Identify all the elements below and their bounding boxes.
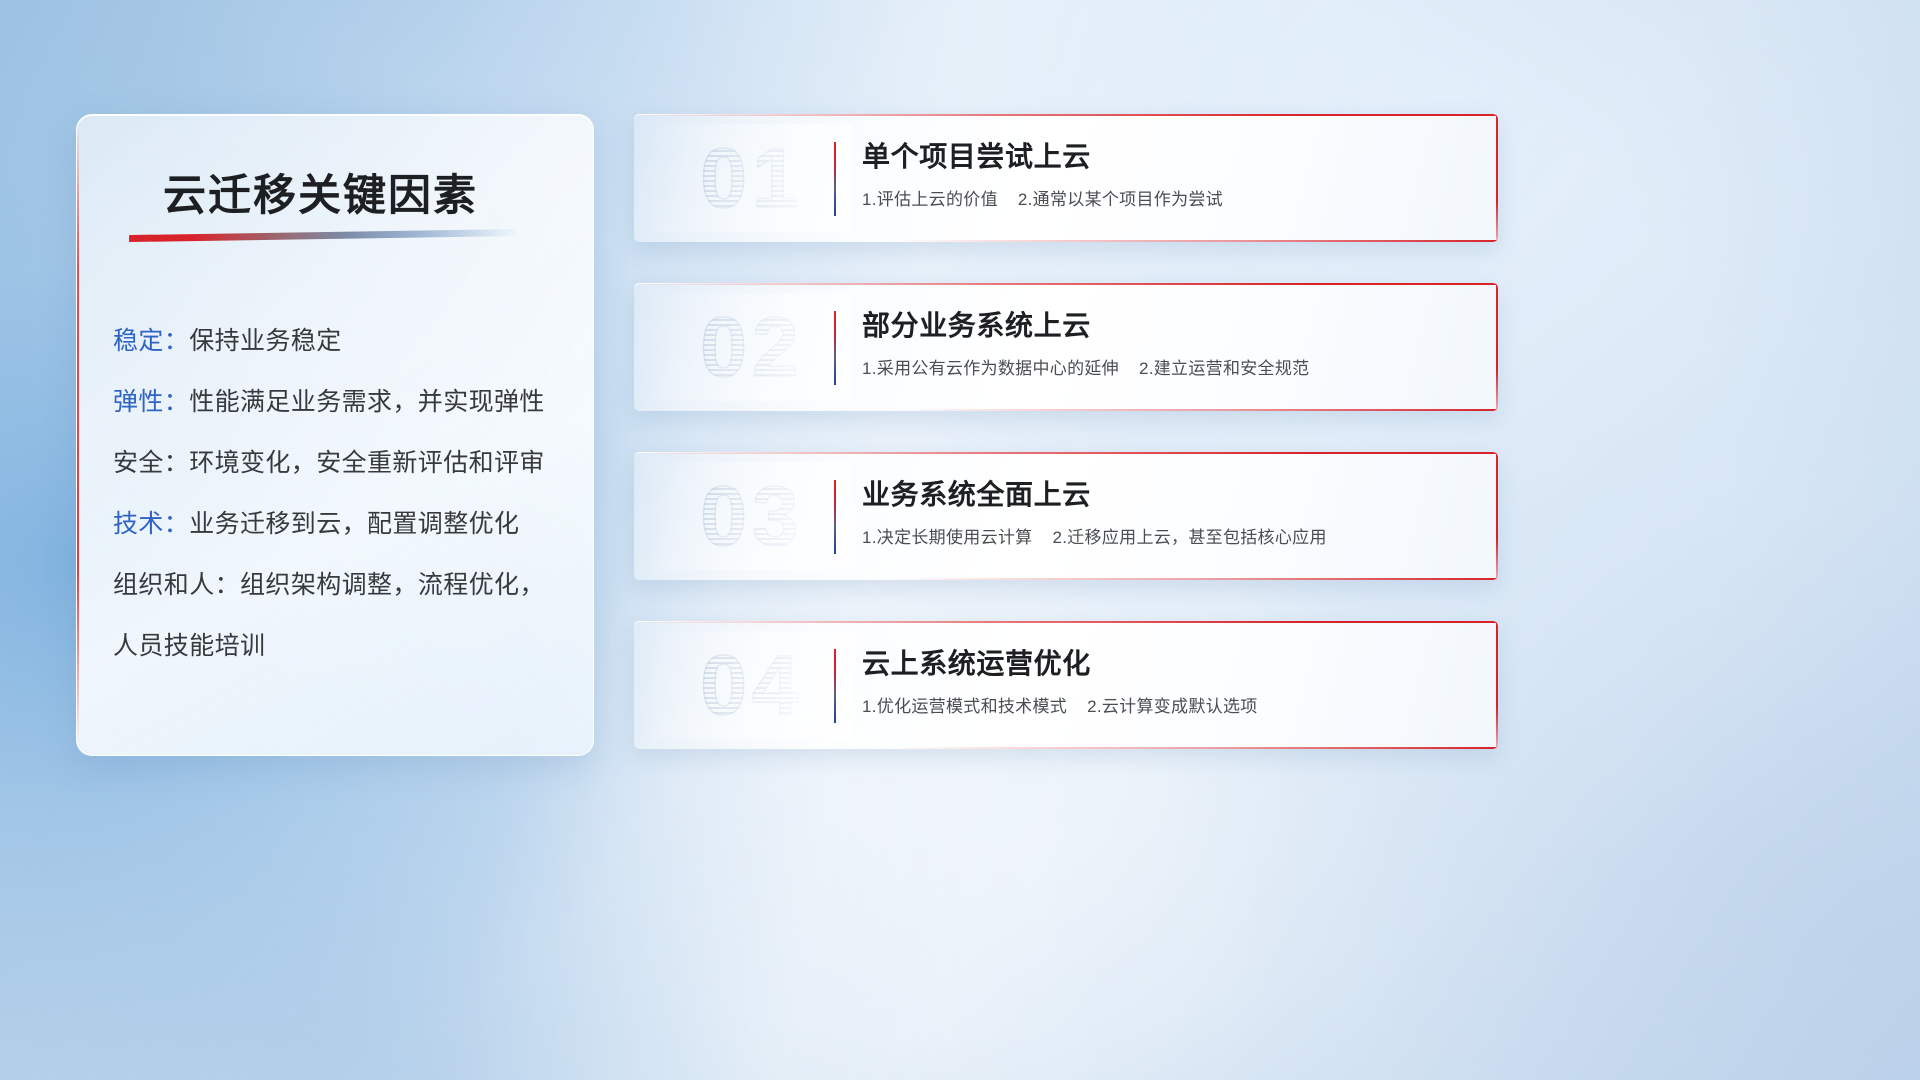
key-factor-row: 人员技能培训 bbox=[113, 616, 569, 677]
stage-card[interactable]: 04云上系统运营优化1.优化运营模式和技术模式2.云计算变成默认选项 bbox=[634, 621, 1498, 749]
key-factor-row: 稳定：保持业务稳定 bbox=[113, 311, 569, 372]
title-underline-gradient bbox=[129, 229, 519, 242]
card-body: 云上系统运营优化1.优化运营模式和技术模式2.云计算变成默认选项 bbox=[862, 645, 1474, 719]
card-point: 1.优化运营模式和技术模式 bbox=[862, 697, 1067, 716]
key-factor-text: 业务迁移到云，配置调整优化 bbox=[189, 510, 519, 538]
card-top-accent-line bbox=[634, 114, 1498, 116]
key-factor-text: 人员技能培训 bbox=[113, 632, 265, 660]
key-factors-panel: 云迁移关键因素 稳定：保持业务稳定弹性：性能满足业务需求，并实现弹性安全：环境变… bbox=[76, 114, 594, 756]
stage-card[interactable]: 03业务系统全面上云1.决定长期使用云计算2.迁移应用上云，甚至包括核心应用 bbox=[634, 452, 1498, 580]
key-factor-row: 安全：环境变化，安全重新评估和评审 bbox=[113, 433, 569, 494]
card-bottom-accent-line bbox=[893, 409, 1498, 411]
card-step-number: 01 bbox=[662, 130, 842, 226]
key-factor-label: 技术： bbox=[113, 510, 189, 538]
card-top-accent-line bbox=[634, 621, 1498, 623]
key-factor-label: 安全： bbox=[113, 449, 189, 477]
card-right-accent-line bbox=[1496, 452, 1498, 580]
key-factor-label: 稳定： bbox=[113, 327, 189, 355]
card-divider-bar bbox=[834, 311, 836, 385]
slide-stage: 云迁移关键因素 稳定：保持业务稳定弹性：性能满足业务需求，并实现弹性安全：环境变… bbox=[0, 0, 1920, 1080]
card-divider-bar bbox=[834, 480, 836, 554]
card-body: 部分业务系统上云1.采用公有云作为数据中心的延伸2.建立运营和安全规范 bbox=[862, 307, 1474, 381]
key-factor-text: 组织架构调整，流程优化， bbox=[240, 571, 545, 599]
card-top-accent-line bbox=[634, 283, 1498, 285]
key-factor-label: 组织和人： bbox=[113, 571, 240, 599]
key-factor-label: 弹性： bbox=[113, 388, 189, 416]
key-factor-row: 弹性：性能满足业务需求，并实现弹性 bbox=[113, 372, 569, 433]
stage-card[interactable]: 02部分业务系统上云1.采用公有云作为数据中心的延伸2.建立运营和安全规范 bbox=[634, 283, 1498, 411]
card-point: 1.评估上云的价值 bbox=[862, 190, 998, 209]
cloud-migration-stage-cards: 01单个项目尝试上云1.评估上云的价值2.通常以某个项目作为尝试02部分业务系统… bbox=[634, 114, 1498, 790]
card-point: 2.迁移应用上云，甚至包括核心应用 bbox=[1052, 528, 1326, 547]
card-point: 1.采用公有云作为数据中心的延伸 bbox=[862, 359, 1119, 378]
card-step-number: 03 bbox=[662, 468, 842, 564]
card-body: 业务系统全面上云1.决定长期使用云计算2.迁移应用上云，甚至包括核心应用 bbox=[862, 476, 1474, 550]
page-title: 云迁移关键因素 bbox=[163, 161, 478, 223]
key-factor-text: 保持业务稳定 bbox=[189, 327, 341, 355]
panel-left-accent-bar bbox=[77, 127, 79, 743]
card-description: 1.优化运营模式和技术模式2.云计算变成默认选项 bbox=[862, 695, 1474, 719]
card-point: 2.云计算变成默认选项 bbox=[1087, 697, 1257, 716]
card-title: 部分业务系统上云 bbox=[862, 307, 1474, 345]
card-description: 1.采用公有云作为数据中心的延伸2.建立运营和安全规范 bbox=[862, 357, 1474, 381]
card-divider-bar bbox=[834, 142, 836, 216]
card-step-number: 04 bbox=[662, 637, 842, 733]
card-title: 云上系统运营优化 bbox=[862, 645, 1474, 683]
card-right-accent-line bbox=[1496, 283, 1498, 411]
card-point: 2.建立运营和安全规范 bbox=[1139, 359, 1309, 378]
card-right-accent-line bbox=[1496, 621, 1498, 749]
card-bottom-accent-line bbox=[893, 578, 1498, 580]
card-description: 1.评估上云的价值2.通常以某个项目作为尝试 bbox=[862, 188, 1474, 212]
key-factor-text: 环境变化，安全重新评估和评审 bbox=[189, 449, 545, 477]
card-step-number: 02 bbox=[662, 299, 842, 395]
card-point: 2.通常以某个项目作为尝试 bbox=[1018, 190, 1223, 209]
card-divider-bar bbox=[834, 649, 836, 723]
key-factor-row: 组织和人：组织架构调整，流程优化， bbox=[113, 555, 569, 616]
card-body: 单个项目尝试上云1.评估上云的价值2.通常以某个项目作为尝试 bbox=[862, 138, 1474, 212]
card-title: 业务系统全面上云 bbox=[862, 476, 1474, 514]
card-bottom-accent-line bbox=[893, 240, 1498, 242]
card-point: 1.决定长期使用云计算 bbox=[862, 528, 1032, 547]
card-title: 单个项目尝试上云 bbox=[862, 138, 1474, 176]
card-bottom-accent-line bbox=[893, 747, 1498, 749]
card-description: 1.决定长期使用云计算2.迁移应用上云，甚至包括核心应用 bbox=[862, 526, 1474, 550]
key-factors-list: 稳定：保持业务稳定弹性：性能满足业务需求，并实现弹性安全：环境变化，安全重新评估… bbox=[113, 311, 569, 677]
key-factor-row: 技术：业务迁移到云，配置调整优化 bbox=[113, 494, 569, 555]
card-top-accent-line bbox=[634, 452, 1498, 454]
card-right-accent-line bbox=[1496, 114, 1498, 242]
key-factor-text: 性能满足业务需求，并实现弹性 bbox=[189, 388, 545, 416]
stage-card[interactable]: 01单个项目尝试上云1.评估上云的价值2.通常以某个项目作为尝试 bbox=[634, 114, 1498, 242]
